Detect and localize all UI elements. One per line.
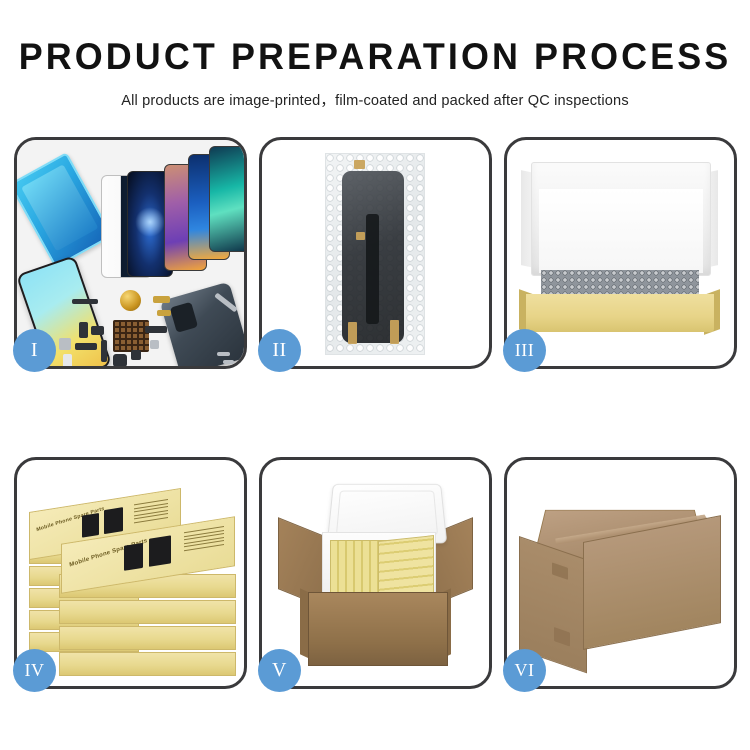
- spare-part: [150, 340, 159, 349]
- screw-part: [217, 352, 230, 356]
- step-badge-6: VI: [503, 649, 546, 692]
- bubble-bag-graphic: [325, 153, 425, 355]
- carton-tab: [552, 562, 568, 580]
- process-step-1: I: [14, 137, 247, 369]
- spare-part: [145, 326, 167, 333]
- yellow-box-tray: [526, 294, 714, 332]
- process-step-3: III: [504, 137, 737, 369]
- boxes-stack-image: Mobile Phone Spare Parts Mobile Phone Sp…: [17, 460, 244, 686]
- tape-mark: [390, 320, 399, 344]
- foam-lid-graphic: [531, 162, 711, 276]
- spare-part: [63, 354, 72, 366]
- stacked-box: [59, 600, 236, 624]
- spare-part: [75, 343, 97, 350]
- box-screen-swatch: [82, 513, 99, 538]
- spare-part: [131, 350, 141, 360]
- parts-scene: [17, 140, 244, 366]
- process-step-5: V: [259, 457, 492, 689]
- process-steps-grid: I II: [14, 137, 736, 689]
- camera-lens-part: [120, 290, 141, 311]
- adhesive-frame-graphic: [17, 152, 113, 268]
- foam-carton-image: [262, 460, 489, 686]
- spare-part: [157, 310, 171, 316]
- box-screen-swatch: [149, 535, 171, 566]
- step-badge-1: I: [13, 329, 56, 372]
- header: PRODUCT PREPARATION PROCESS All products…: [0, 0, 750, 110]
- spare-part: [101, 340, 107, 362]
- step-badge-5: V: [258, 649, 301, 692]
- tape-mark: [356, 232, 365, 240]
- tape-mark: [348, 322, 357, 344]
- carton-tab: [554, 627, 570, 647]
- yellow-boxes-row: [378, 535, 434, 599]
- phone-teal-graphic: [209, 146, 244, 252]
- sealed-carton-image: [507, 460, 734, 686]
- spare-part: [153, 296, 170, 303]
- box-stack-graphic: Mobile Phone Spare Parts Mobile Phone Sp…: [29, 478, 234, 673]
- screw-part: [223, 360, 234, 364]
- stacked-box: [59, 626, 236, 650]
- product-parts-image: [17, 140, 244, 366]
- spare-part: [113, 354, 127, 366]
- bubble-wrap-image: [262, 140, 489, 366]
- spare-part: [72, 299, 98, 304]
- product-preparation-infographic: PRODUCT PREPARATION PROCESS All products…: [0, 0, 750, 750]
- inner-box-image: [507, 140, 734, 366]
- spare-part: [79, 322, 88, 338]
- spare-part: [59, 338, 71, 350]
- logic-board-part: [113, 320, 149, 352]
- flex-cable-graphic: [366, 214, 379, 324]
- stacked-box: [59, 652, 236, 676]
- carton-front-face: [308, 592, 448, 666]
- page-subtitle: All products are image-printed，film-coat…: [0, 89, 750, 110]
- sealed-carton-graphic: [519, 484, 721, 654]
- tape-mark: [354, 160, 365, 169]
- step-badge-2: II: [258, 329, 301, 372]
- process-step-2: II: [259, 137, 492, 369]
- process-step-4: Mobile Phone Spare Parts Mobile Phone Sp…: [14, 457, 247, 689]
- page-title: PRODUCT PREPARATION PROCESS: [11, 38, 739, 75]
- process-step-6: VI: [504, 457, 737, 689]
- open-inner-box-graphic: [521, 162, 718, 332]
- open-carton-graphic: [278, 480, 473, 665]
- spare-part: [91, 326, 104, 335]
- box-screen-swatch: [124, 543, 143, 571]
- step-badge-3: III: [503, 329, 546, 372]
- box-screen-swatch: [104, 507, 123, 534]
- phone-housing-graphic: [160, 282, 244, 366]
- step-badge-4: IV: [13, 649, 56, 692]
